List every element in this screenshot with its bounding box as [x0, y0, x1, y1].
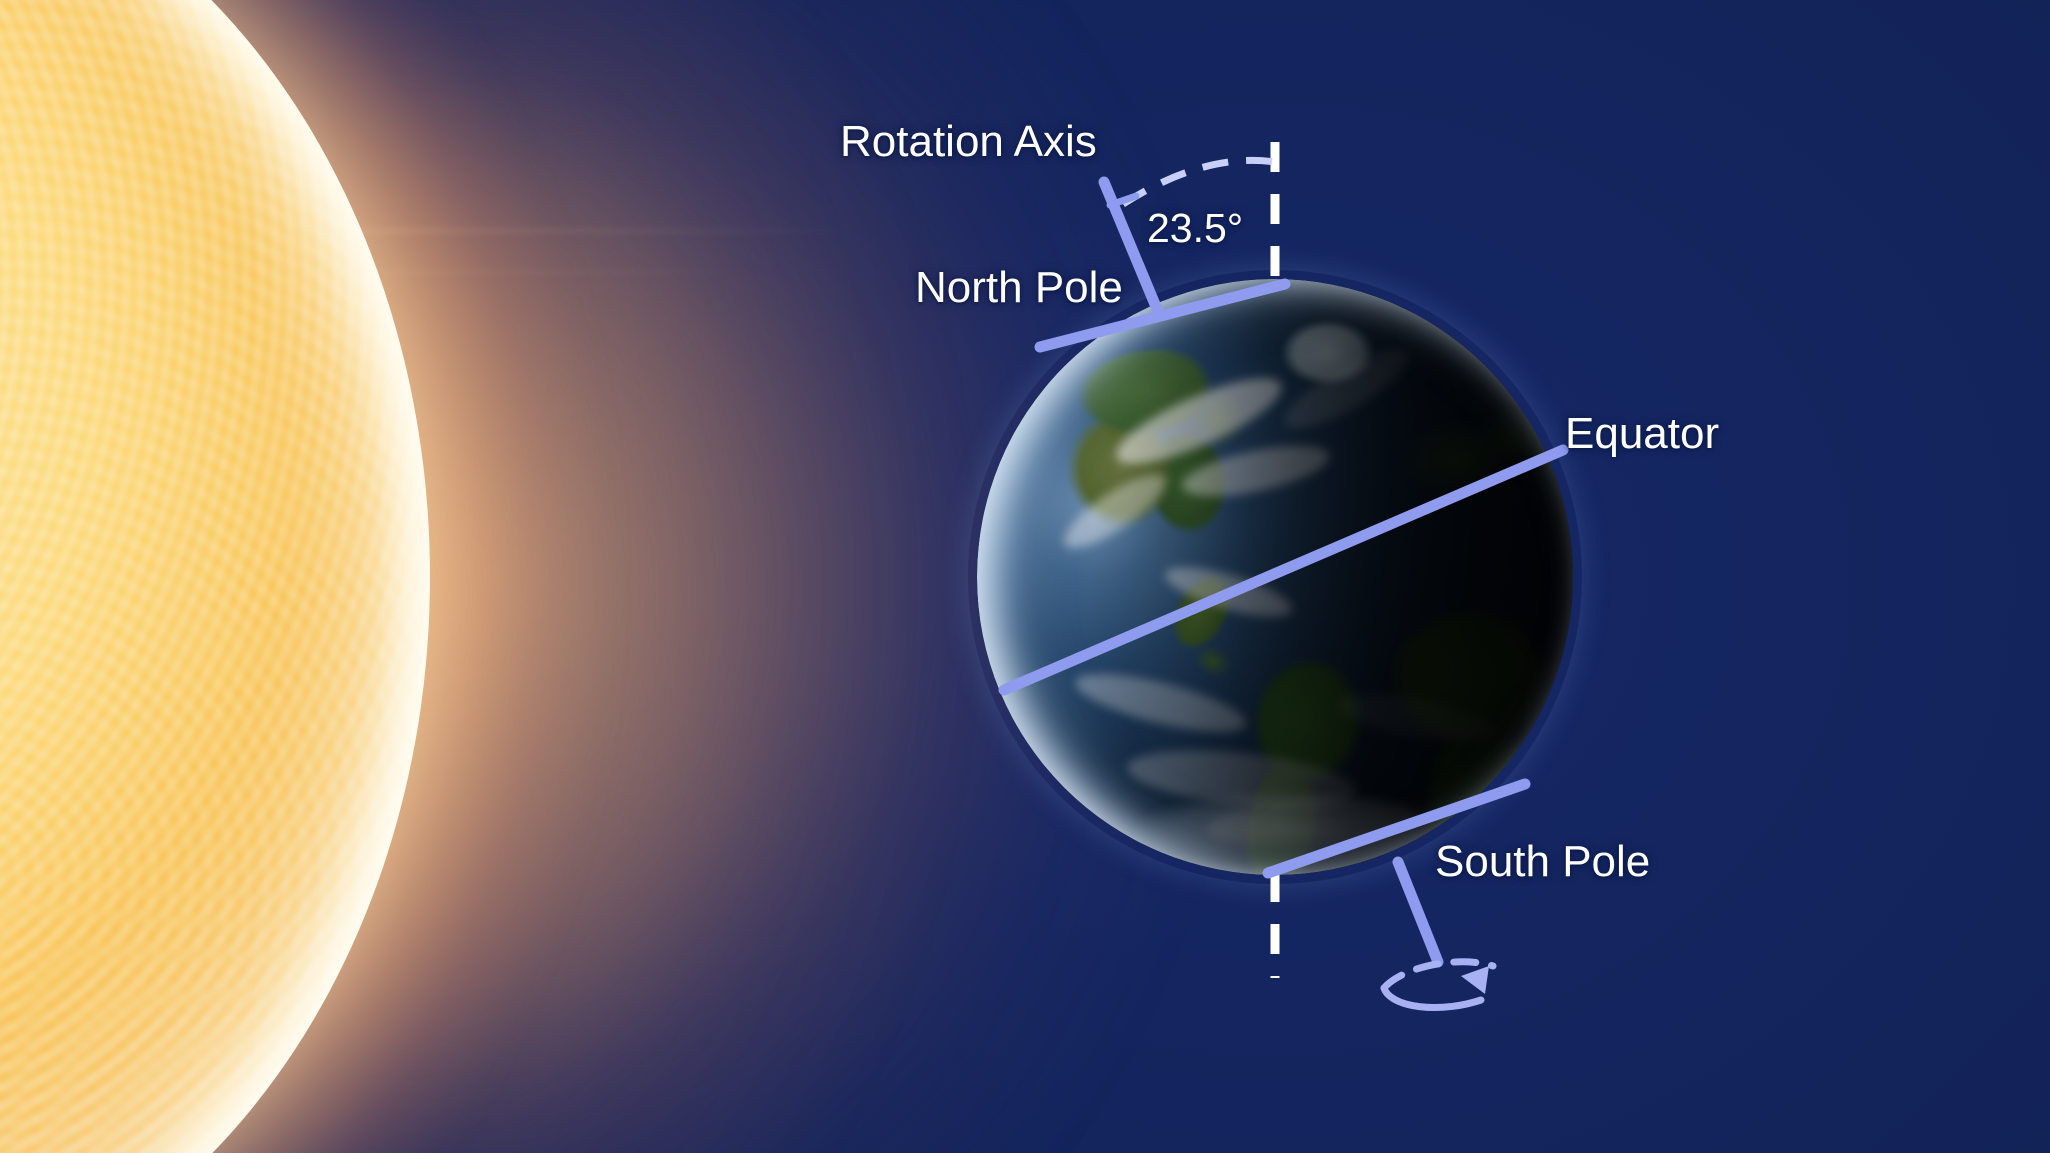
- label-rotation-axis: Rotation Axis: [840, 120, 1097, 164]
- label-north-pole: North Pole: [915, 266, 1123, 310]
- label-tilt-angle: 23.5°: [1147, 208, 1243, 249]
- diagram-canvas: Rotation Axis North Pole 23.5° Equator S…: [0, 0, 2050, 1153]
- label-equator: Equator: [1565, 412, 1719, 456]
- earth-globe: [977, 279, 1573, 875]
- earth-limb-glow: [977, 279, 1573, 875]
- label-south-pole: South Pole: [1435, 840, 1650, 884]
